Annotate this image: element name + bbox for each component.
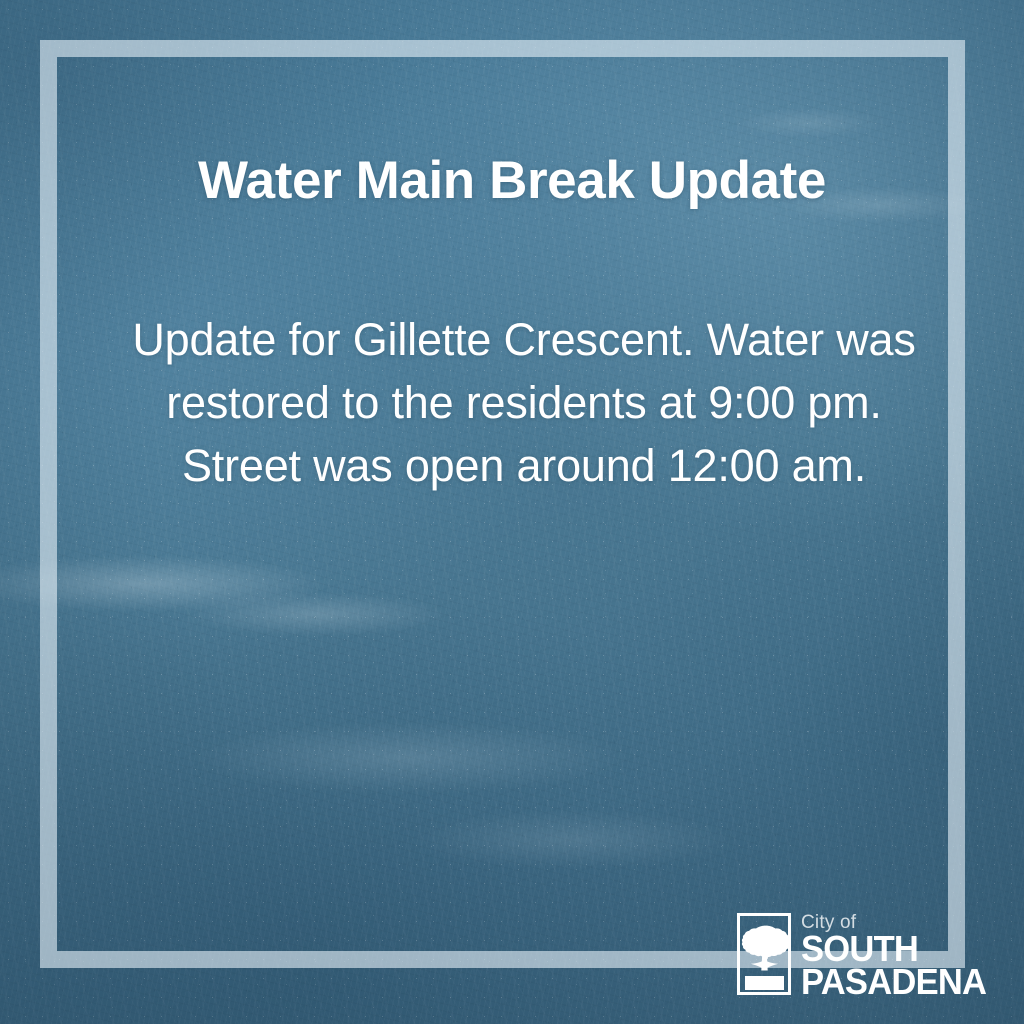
city-logo-line-pasadena: PASADENA	[801, 965, 986, 999]
city-logo-wordmark: City of SOUTH PASADENA	[801, 912, 994, 999]
page-title: Water Main Break Update	[112, 150, 912, 211]
poster-content: Water Main Break Update Update for Gille…	[0, 0, 1024, 1024]
oak-tree-emblem-icon	[736, 912, 792, 996]
announcement-poster: Water Main Break Update Update for Gille…	[0, 0, 1024, 1024]
city-logo: City of SOUTH PASADENA	[736, 912, 982, 1000]
announcement-body-text: Update for Gillette Crescent. Water was …	[104, 308, 944, 497]
